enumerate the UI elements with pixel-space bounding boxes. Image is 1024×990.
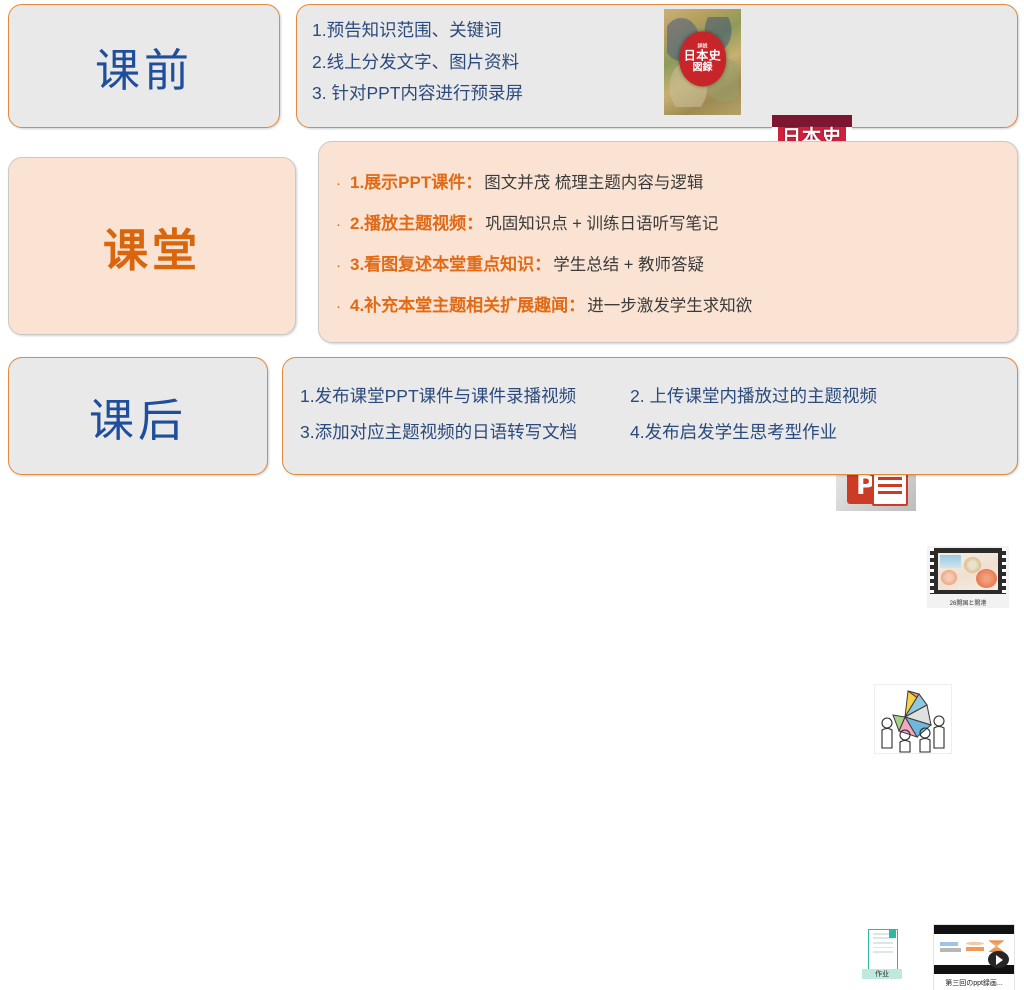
after-class-item-1: 1.发布课堂PPT课件与课件录播视频 [300, 388, 630, 406]
before-class-line-1: 1.预告知识范围、关键词 [312, 22, 523, 40]
bullet-4-body: 进一步激发学生求知欲 [587, 292, 752, 316]
stage-box-after-class[interactable]: 课后 [8, 357, 268, 475]
bullet-dot-icon: · [336, 258, 341, 273]
after-class-item-2: 2. 上传课堂内播放过的主题视频 [630, 388, 877, 406]
before-class-line-2: 2.线上分发文字、图片资料 [312, 54, 523, 72]
filmstrip-frame [930, 548, 1005, 594]
stage-label-in-class: 课堂 [9, 158, 295, 334]
atlas-seal-top: 詳説 [697, 44, 707, 49]
bullet-dot-icon: · [336, 299, 341, 314]
before-class-line-3: 3. 针对PPT内容进行预录屏 [312, 85, 523, 103]
after-class-item-3: 3.添加对应主题视频的日语转写文档 [300, 424, 630, 442]
after-class-row-1: 1.发布课堂PPT课件与课件录播视频 2. 上传课堂内播放过的主题视频 [300, 388, 877, 406]
theme-video-filmstrip: 26開国と開港 [927, 546, 1009, 608]
stage-label-after-class: 课后 [9, 358, 267, 474]
students-discussion-illustration [874, 684, 952, 754]
filmstrip-image [938, 553, 998, 590]
before-class-text-list: 1.预告知识范围、关键词 2.线上分发文字、图片资料 3. 针对PPT内容进行预… [312, 22, 523, 117]
atlas-seal-sub: 図録 [692, 63, 712, 74]
recorded-ppt-video-thumbnail[interactable]: 第三回のppt録画... [933, 924, 1015, 990]
filmstrip-perforations-right [1002, 548, 1006, 594]
filmstrip-perforations-left [930, 548, 934, 594]
bullet-1-body: 图文并茂 梳理主题内容与逻辑 [484, 169, 703, 193]
in-class-bullet-1: · 1.展示PPT课件： 图文并茂 梳理主题内容与逻辑 [336, 168, 752, 193]
document-caption: 作业 [862, 969, 902, 979]
bullet-3-head: 3.看图复述本堂重点知识： [350, 250, 551, 275]
bullet-4-head: 4.补充本堂主题相关扩展趣闻： [350, 291, 585, 316]
stage-label-before-class: 课前 [9, 5, 279, 127]
students-illustration-svg [875, 685, 951, 753]
filmstrip-caption: 26開国と開港 [929, 598, 1008, 607]
atlas-seal-main: 日本史 [684, 49, 722, 62]
video-letterbox-top [934, 925, 1014, 934]
bullet-dot-icon: · [336, 217, 341, 232]
play-button-icon[interactable] [988, 951, 1009, 968]
after-class-text-grid: 1.发布课堂PPT课件与课件录播视频 2. 上传课堂内播放过的主题视频 3.添加… [300, 388, 877, 459]
bullet-dot-icon: · [336, 176, 341, 191]
after-class-row-2: 3.添加对应主题视频的日语转写文档 4.发布启发学生思考型作业 [300, 424, 877, 442]
bullet-1-head: 1.展示PPT课件： [350, 168, 482, 193]
after-class-item-4: 4.发布启发学生思考型作业 [630, 424, 837, 442]
stage-box-before-class[interactable]: 课前 [8, 4, 280, 128]
document-fold-corner [889, 929, 896, 938]
bullet-2-body: 巩固知识点 + 训练日语听写笔记 [485, 210, 718, 234]
slide-canvas: 课前 1.预告知识范围、关键词 2.线上分发文字、图片资料 3. 针对PPT内容… [0, 0, 1024, 495]
atlas-seal: 詳説 日本史 図録 [679, 31, 727, 86]
video-caption: 第三回のppt録画... [934, 976, 1014, 990]
homework-document-icon: 作业 [862, 927, 902, 979]
japanese-history-atlas-cover: 詳説 日本史 図録 [664, 9, 741, 115]
stage-box-in-class[interactable]: 课堂 [8, 157, 296, 335]
bullet-2-head: 2.播放主题视频： [350, 209, 483, 234]
in-class-bullet-2: · 2.播放主题视频： 巩固知识点 + 训练日语听写笔记 [336, 209, 752, 234]
in-class-bullet-4: · 4.补充本堂主题相关扩展趣闻： 进一步激发学生求知欲 [336, 291, 752, 316]
bullet-3-body: 学生总结 + 教师答疑 [553, 251, 704, 275]
powerpoint-slide-graphic [872, 471, 908, 507]
in-class-bullet-3: · 3.看图复述本堂重点知识： 学生总结 + 教师答疑 [336, 250, 752, 275]
magazine-topbar [772, 115, 852, 127]
in-class-bullet-list: · 1.展示PPT课件： 图文并茂 梳理主题内容与逻辑 · 2.播放主题视频： … [336, 168, 752, 332]
